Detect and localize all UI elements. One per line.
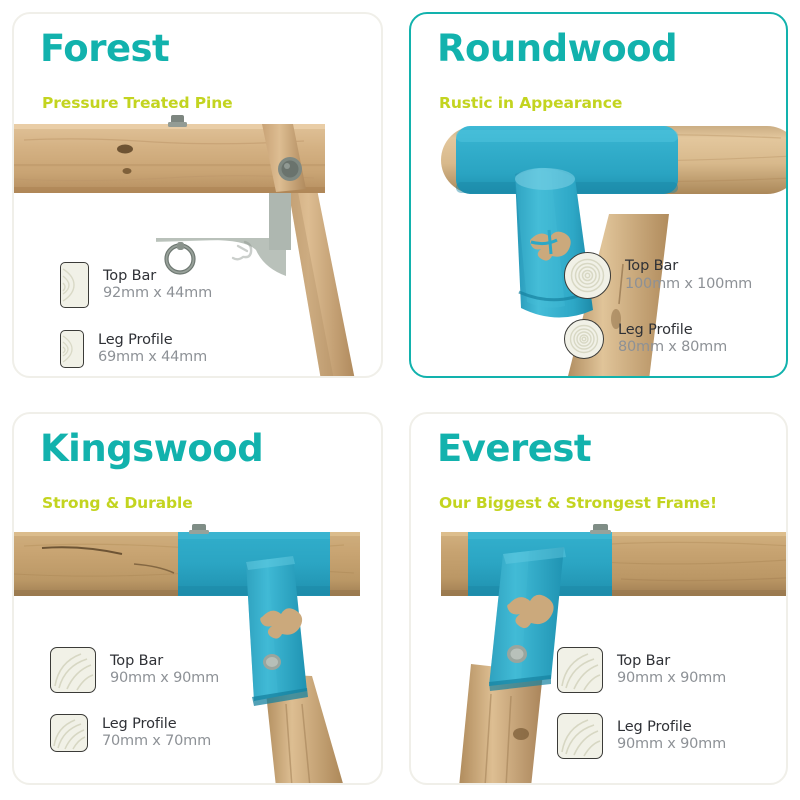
spec-dimensions: 90mm x 90mm (617, 736, 726, 753)
spec-text: Leg Profile 80mm x 80mm (618, 322, 727, 356)
frame-card-roundwood[interactable]: Roundwood Rustic in Appearance (409, 12, 788, 378)
card-title: Forest (40, 30, 169, 69)
spec-dimensions: 92mm x 44mm (103, 285, 212, 302)
spec-list: Top Bar 90mm x 90mm Le (557, 647, 726, 759)
spec-dimensions: 80mm x 80mm (618, 339, 727, 356)
spec-label: Leg Profile (102, 716, 211, 733)
card-subtitle: Our Biggest & Strongest Frame! (439, 494, 717, 512)
spec-dimensions: 70mm x 70mm (102, 733, 211, 750)
spec-row: Top Bar 90mm x 90mm (50, 647, 219, 693)
spec-dimensions: 90mm x 90mm (110, 670, 219, 687)
spec-row: Top Bar 92mm x 44mm (60, 262, 212, 308)
profile-swatch-top-bar (564, 252, 611, 299)
spec-text: Top Bar 90mm x 90mm (617, 653, 726, 687)
profile-swatch-leg (564, 319, 604, 359)
spec-text: Leg Profile 90mm x 90mm (617, 719, 726, 753)
spec-text: Leg Profile 69mm x 44mm (98, 332, 207, 366)
frame-card-forest[interactable]: Forest Pressure Treated Pine Top Bar 92m… (12, 12, 383, 378)
spec-row: Leg Profile 69mm x 44mm (60, 330, 212, 368)
frame-card-kingswood[interactable]: Kingswood Strong & Durable Top Bar (12, 412, 383, 785)
card-subtitle: Pressure Treated Pine (42, 94, 233, 112)
profile-swatch-leg (50, 714, 88, 752)
profile-swatch-leg (557, 713, 603, 759)
frame-type-comparison-grid: Forest Pressure Treated Pine Top Bar 92m… (0, 0, 800, 800)
card-subtitle: Strong & Durable (42, 494, 193, 512)
profile-swatch-leg (60, 330, 84, 368)
spec-row: Top Bar 100mm x 100mm (564, 252, 752, 299)
card-title: Kingswood (40, 430, 263, 469)
spec-label: Top Bar (103, 268, 212, 285)
card-title: Everest (437, 430, 591, 469)
spec-row: Leg Profile 80mm x 80mm (564, 319, 752, 359)
spec-list: Top Bar 100mm x 100mm (564, 252, 752, 359)
spec-label: Leg Profile (618, 322, 727, 339)
spec-label: Leg Profile (98, 332, 207, 349)
spec-dimensions: 69mm x 44mm (98, 349, 207, 366)
profile-swatch-top-bar (60, 262, 89, 308)
profile-swatch-top-bar (50, 647, 96, 693)
spec-text: Leg Profile 70mm x 70mm (102, 716, 211, 750)
spec-list: Top Bar 90mm x 90mm Le (50, 647, 219, 752)
spec-label: Top Bar (625, 258, 752, 275)
spec-label: Top Bar (110, 653, 219, 670)
spec-label: Leg Profile (617, 719, 726, 736)
card-title: Roundwood (437, 30, 677, 69)
card-subtitle: Rustic in Appearance (439, 94, 622, 112)
spec-dimensions: 100mm x 100mm (625, 276, 752, 293)
spec-row: Leg Profile 70mm x 70mm (50, 714, 219, 752)
spec-dimensions: 90mm x 90mm (617, 670, 726, 687)
spec-row: Leg Profile 90mm x 90mm (557, 713, 726, 759)
spec-row: Top Bar 90mm x 90mm (557, 647, 726, 693)
spec-label: Top Bar (617, 653, 726, 670)
spec-list: Top Bar 92mm x 44mm Leg Profile (60, 262, 212, 368)
frame-card-everest[interactable]: Everest Our Biggest & Strongest Frame! (409, 412, 788, 785)
spec-text: Top Bar 90mm x 90mm (110, 653, 219, 687)
profile-swatch-top-bar (557, 647, 603, 693)
spec-text: Top Bar 100mm x 100mm (625, 258, 752, 292)
spec-text: Top Bar 92mm x 44mm (103, 268, 212, 302)
